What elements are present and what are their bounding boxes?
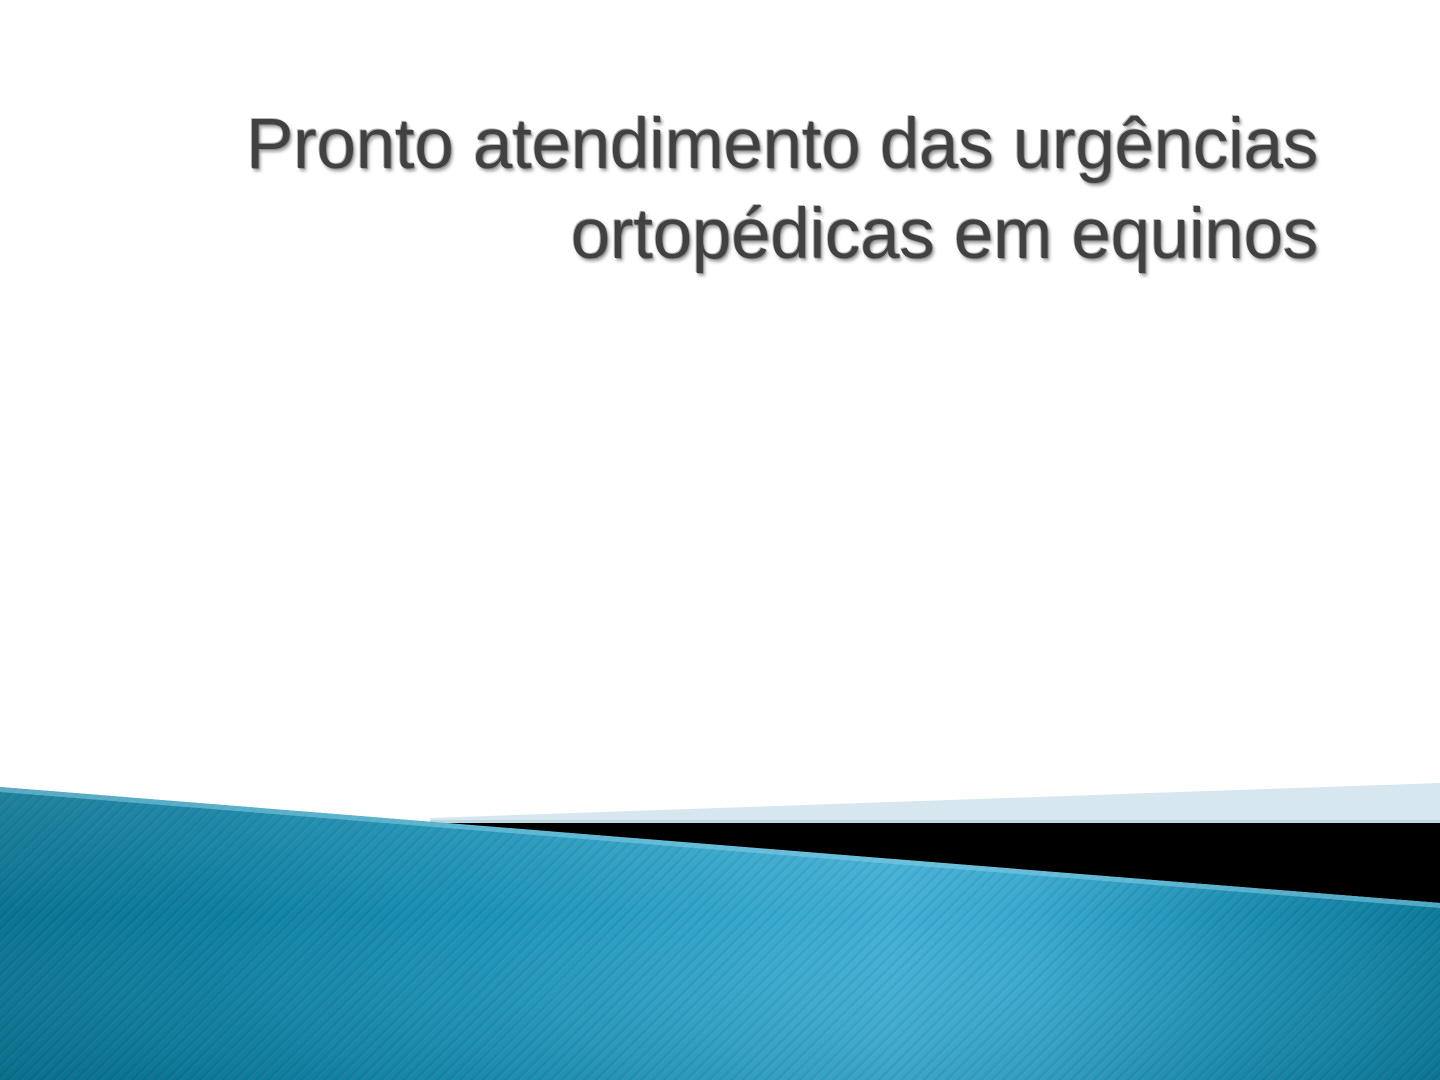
presentation-slide: Pronto atendimento das urgências ortopéd… [0,0,1440,1080]
title-placeholder[interactable]: Pronto atendimento das urgências ortopéd… [150,100,1318,280]
pale-wedge-edge [430,820,1440,823]
pale-blue-wedge [430,783,1440,822]
page-title: Pronto atendimento das urgências ortopéd… [150,100,1318,280]
bottom-decoration-banner [0,780,1440,1080]
decoration-shapes [0,780,1440,1080]
